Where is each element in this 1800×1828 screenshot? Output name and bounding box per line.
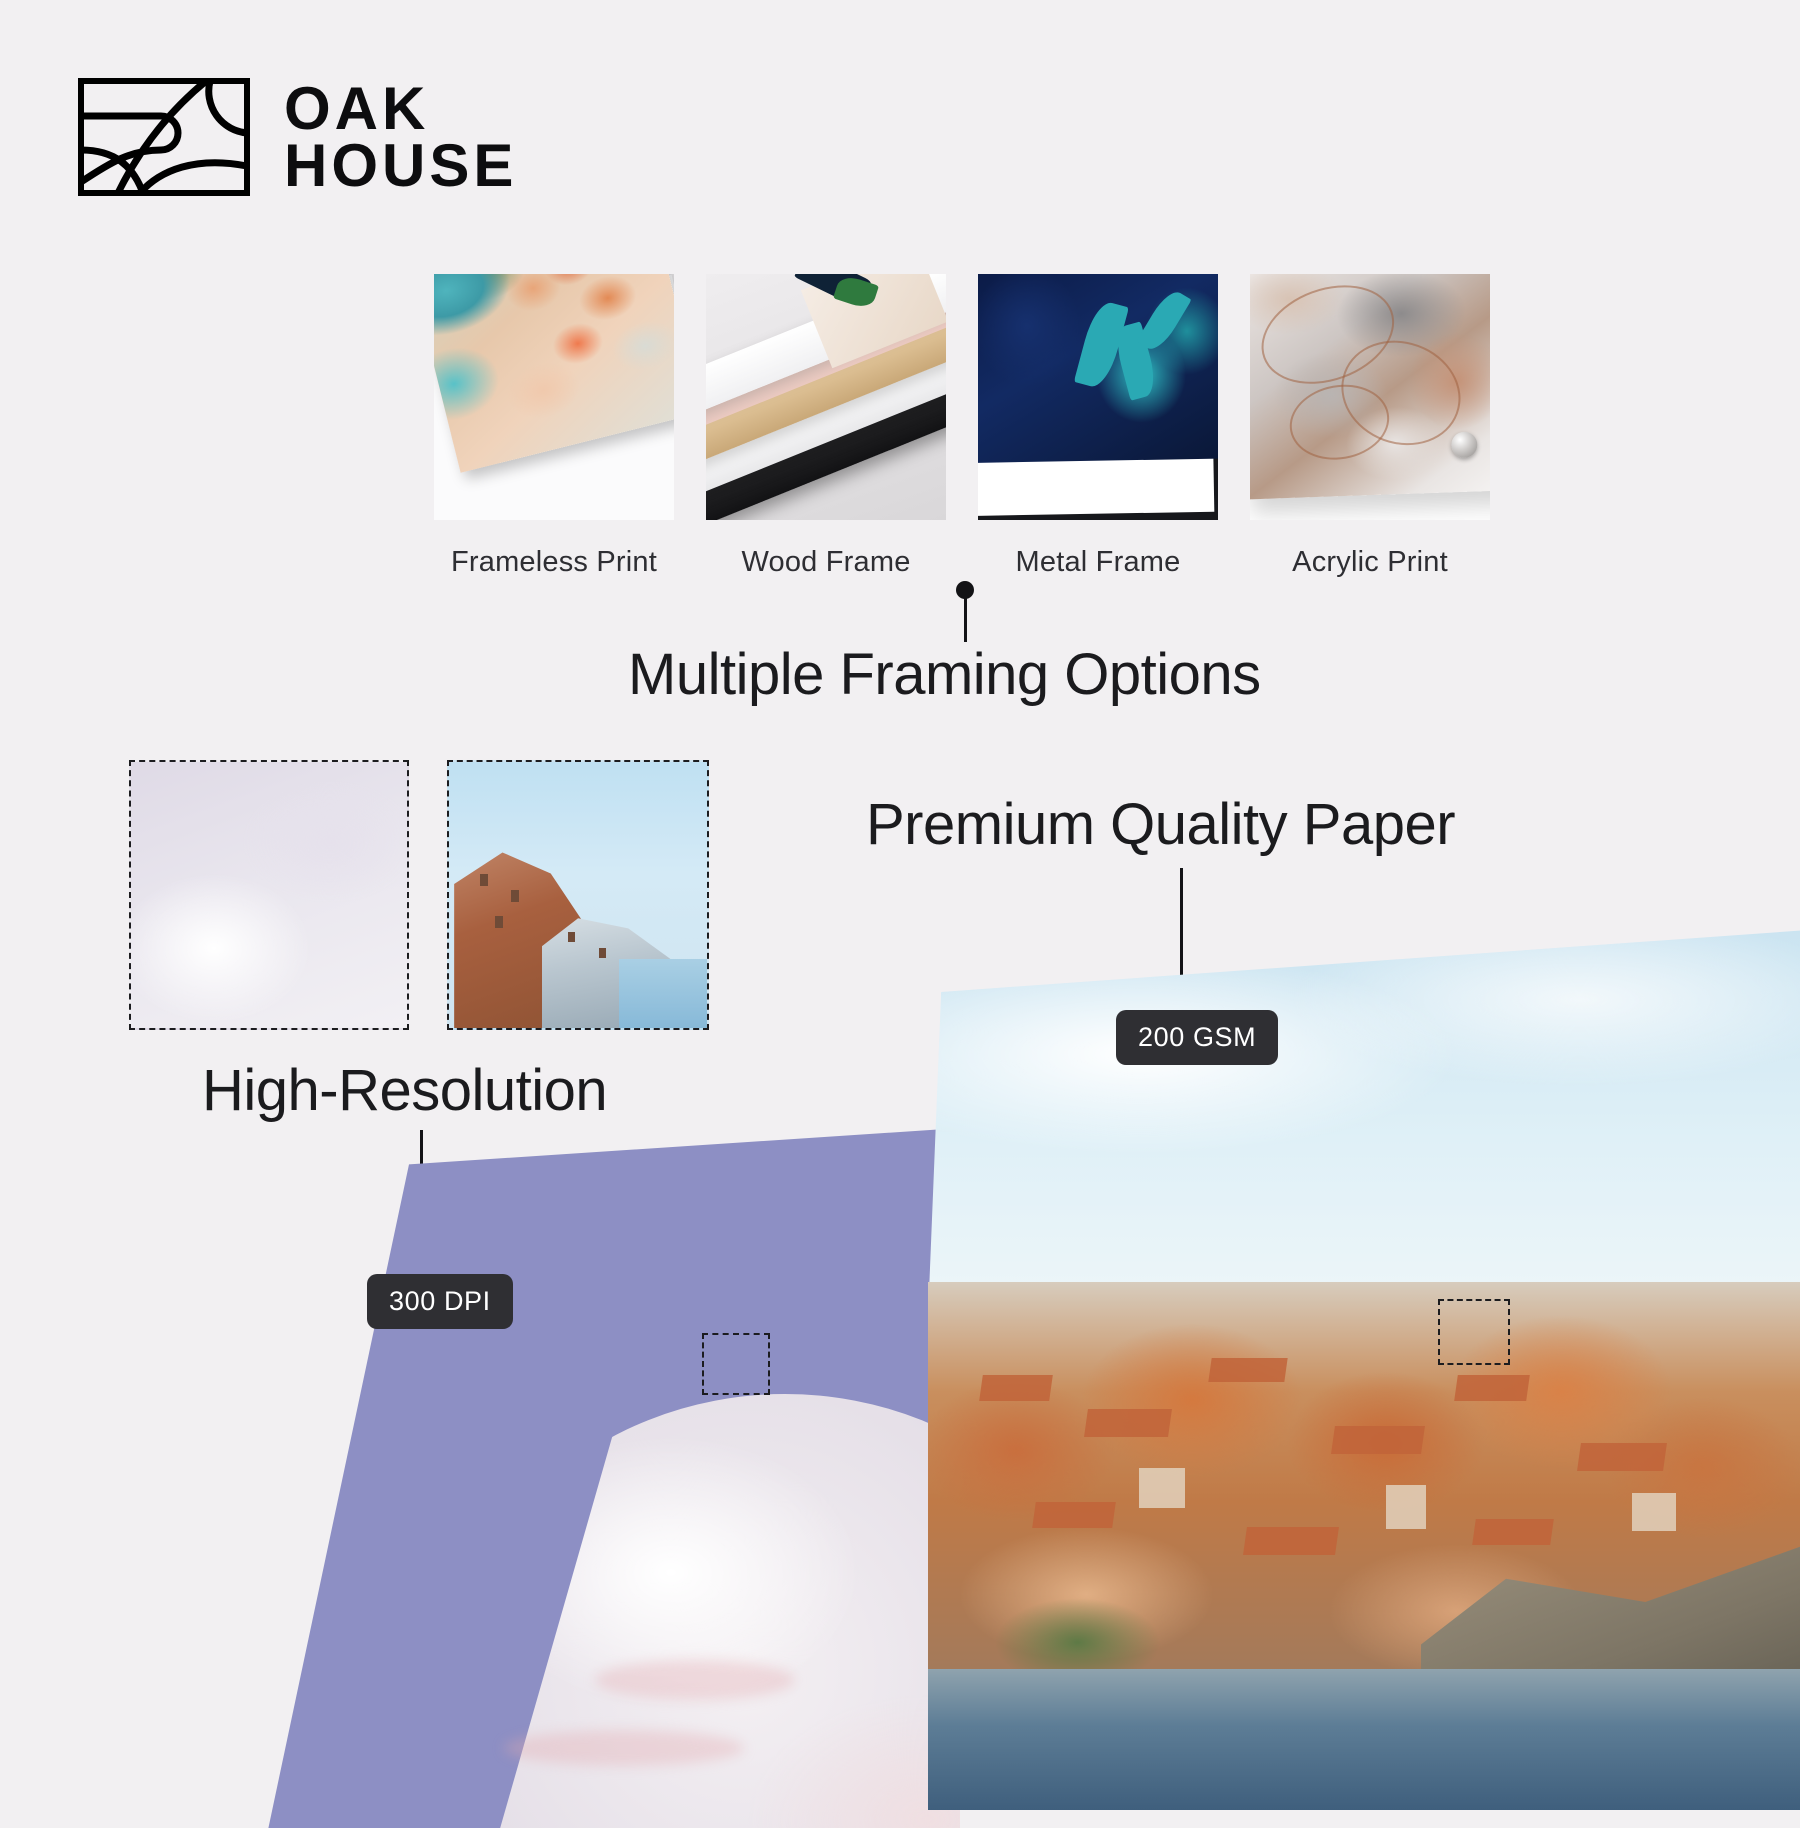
framing-option-metal-frame[interactable]: Metal Frame: [978, 274, 1218, 579]
acrylic-standoff-icon: [1451, 431, 1478, 458]
oak-house-logo-icon: [78, 78, 250, 196]
framing-option-label: Acrylic Print: [1250, 546, 1490, 579]
zoom-crop-marker-poster: [702, 1333, 770, 1395]
framing-option-label: Frameless Print: [434, 546, 674, 579]
frameless-print-thumbnail: [434, 274, 674, 520]
framing-options-row: Frameless Print Wood Frame: [434, 274, 1490, 579]
framing-option-wood-frame[interactable]: Wood Frame: [706, 274, 946, 579]
framing-option-acrylic-print[interactable]: Acrylic Print: [1250, 274, 1490, 579]
coastal-city-poster: [928, 930, 1800, 1810]
framing-callout-line: [964, 598, 967, 642]
wood-frame-thumbnail: [706, 274, 946, 520]
framing-option-label: Wood Frame: [706, 546, 946, 579]
print-detail-swatch: [447, 760, 709, 1030]
metal-frame-thumbnail: [978, 274, 1218, 520]
acrylic-print-thumbnail: [1250, 274, 1490, 520]
dpi-badge: 300 DPI: [367, 1274, 513, 1329]
framing-callout-dot: [956, 581, 974, 599]
gsm-badge: 200 GSM: [1116, 1010, 1278, 1065]
abstract-moon-poster: [200, 1128, 960, 1828]
framing-callout-heading: Multiple Framing Options: [628, 641, 1261, 708]
framing-option-frameless-print[interactable]: Frameless Print: [434, 274, 674, 579]
high-resolution-heading: High-Resolution: [202, 1057, 607, 1124]
framing-option-label: Metal Frame: [978, 546, 1218, 579]
brand-wordmark: OAK HOUSE: [284, 80, 517, 194]
brand-logo: OAK HOUSE: [78, 78, 517, 196]
premium-paper-heading: Premium Quality Paper: [866, 791, 1455, 858]
paper-texture-swatch: [129, 760, 409, 1030]
zoom-crop-marker-city: [1438, 1299, 1510, 1365]
